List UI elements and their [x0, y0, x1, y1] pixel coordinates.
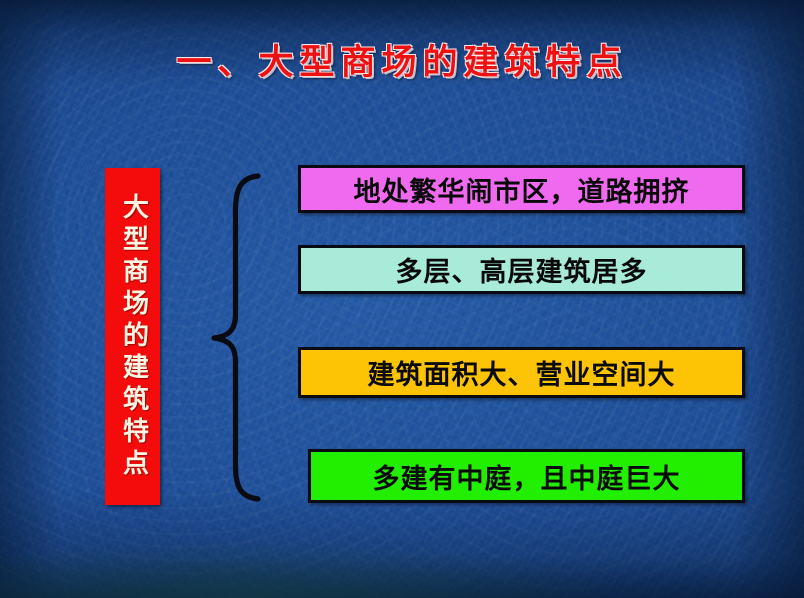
vertical-topic-label: 大型商场的建筑特点	[105, 168, 160, 505]
feature-box-4-label: 多建有中庭，且中庭巨大	[373, 457, 681, 496]
feature-box-1[interactable]: 地处繁华闹市区，道路拥挤	[298, 165, 745, 213]
background-green-tint	[0, 508, 804, 598]
feature-box-2-label: 多层、高层建筑居多	[396, 250, 648, 289]
left-curly-brace-icon	[196, 172, 276, 502]
slide-title: 一、大型商场的建筑特点	[0, 34, 804, 85]
feature-box-4[interactable]: 多建有中庭，且中庭巨大	[308, 449, 745, 503]
feature-box-3-label: 建筑面积大、营业空间大	[368, 353, 676, 392]
feature-box-3[interactable]: 建筑面积大、营业空间大	[298, 347, 745, 398]
feature-box-1-label: 地处繁华闹市区，道路拥挤	[354, 170, 690, 209]
vertical-topic-label-text: 大型商场的建筑特点	[115, 193, 151, 481]
feature-box-2[interactable]: 多层、高层建筑居多	[298, 245, 745, 294]
presentation-slide: 一、大型商场的建筑特点 大型商场的建筑特点 地处繁华闹市区，道路拥挤 多层、高层…	[0, 0, 804, 598]
